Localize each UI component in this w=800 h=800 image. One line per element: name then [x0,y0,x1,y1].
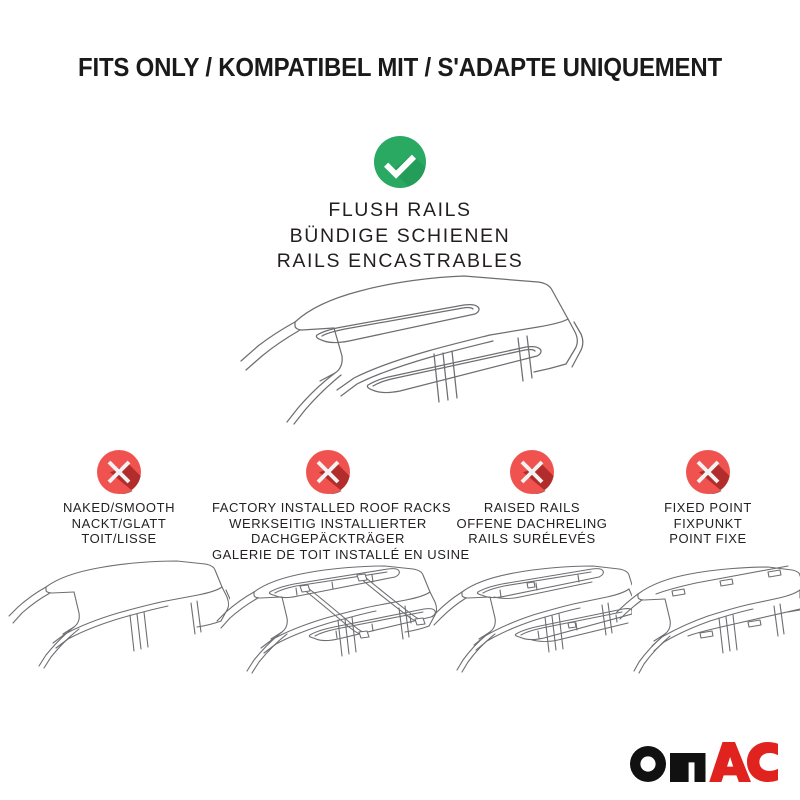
incompatible-label-en: NAKED/SMOOTH [8,500,230,516]
red-x-icon [686,450,730,494]
red-x-icon [306,450,350,494]
compatible-section: FLUSH RAILS BÜNDIGE SCHIENEN RAILS ENCAS… [0,136,800,275]
incompatible-labels: RAISED RAILS OFFENE DACHRELING RAILS SUR… [432,500,632,547]
compatible-label-en: FLUSH RAILS [0,198,800,224]
logo-letter-o [630,746,666,782]
red-x-icon [510,450,554,494]
incompatible-card-raised-rails: RAISED RAILS OFFENE DACHRELING RAILS SUR… [432,450,632,547]
incompatible-card-factory-racks: FACTORY INSTALLED ROOF RACKS WERKSEITIG … [212,450,444,562]
incompatible-labels: NAKED/SMOOTH NACKT/GLATT TOIT/LISSE [8,500,230,547]
incompatible-label-en: RAISED RAILS [432,500,632,516]
logo-letter-a [709,742,751,782]
incompatible-label-de: NACKT/GLATT [8,516,230,532]
logo-letter-c [747,742,778,782]
compatible-label-fr: RAILS ENCASTRABLES [0,249,800,275]
compatible-label-de: BÜNDIGE SCHIENEN [0,224,800,250]
car-roof-fixed-point-illustration [616,550,800,680]
incompatible-label-en: FACTORY INSTALLED ROOF RACKS [212,500,444,516]
compatible-labels: FLUSH RAILS BÜNDIGE SCHIENEN RAILS ENCAS… [0,198,800,275]
green-check-icon [374,136,426,188]
incompatible-label-fr: RAILS SURÉLEVÉS [432,531,632,547]
incompatible-card-fixed-point: FIXED POINT FIXPUNKT POINT FIXE [616,450,800,547]
page-title: FITS ONLY / KOMPATIBEL MIT / S'ADAPTE UN… [24,54,776,83]
car-roof-flush-rails-illustration [238,272,584,436]
incompatible-labels: FIXED POINT FIXPUNKT POINT FIXE [616,500,800,547]
logo-letter-m [670,753,706,782]
incompatible-label-de: OFFENE DACHRELING [432,516,632,532]
incompatible-section: NAKED/SMOOTH NACKT/GLATT TOIT/LISSE [0,450,800,690]
incompatible-label-en: FIXED POINT [616,500,800,516]
incompatible-label-de: FIXPUNKT [616,516,800,532]
incompatible-card-naked-smooth: NAKED/SMOOTH NACKT/GLATT TOIT/LISSE [8,450,230,547]
car-roof-factory-racks-illustration [212,556,444,686]
incompatible-label-fr: TOIT/LISSE [8,531,230,547]
car-roof-naked-smooth-illustration [8,555,230,685]
car-roof-raised-rails-illustration [432,552,632,682]
incompatible-label-de-1: WERKSEITIG INSTALLIERTER [212,516,444,532]
red-x-icon [97,450,141,494]
incompatible-label-fr: POINT FIXE [616,531,800,547]
incompatible-label-de-2: DACHGEPÄCKTRÄGER [212,531,444,547]
omac-logo [626,742,778,782]
incompatible-labels: FACTORY INSTALLED ROOF RACKS WERKSEITIG … [212,500,444,562]
